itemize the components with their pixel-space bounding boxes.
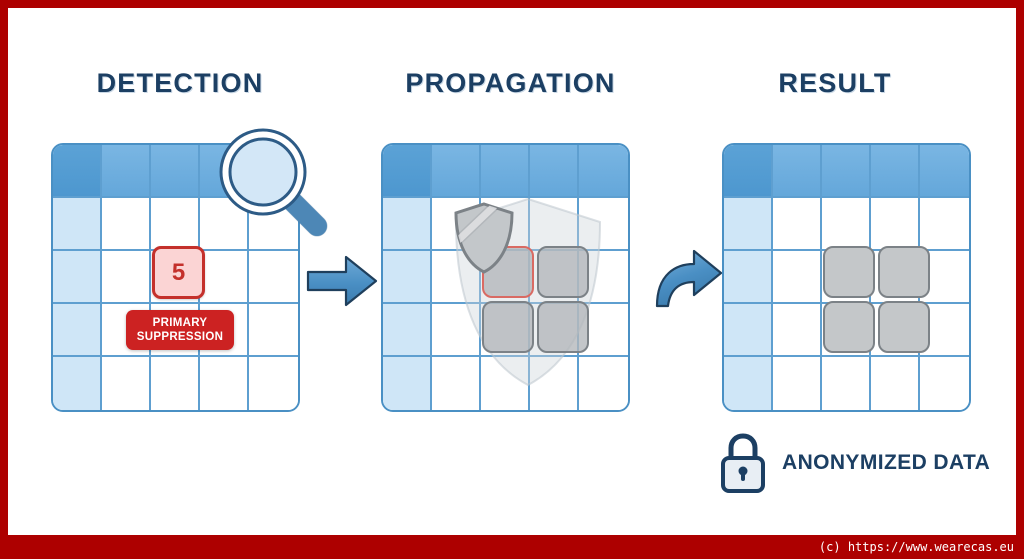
table-cell (530, 145, 579, 198)
table-cell (724, 145, 773, 198)
flagged-cell-value: 5 (152, 246, 205, 299)
table-cell (151, 198, 200, 251)
table-cell (383, 304, 432, 357)
table-cell (102, 198, 151, 251)
anonymized-data-row: ANONYMIZED DATA (718, 432, 990, 494)
table-cell (773, 198, 822, 251)
primary-suppression-badge: PRIMARY SUPPRESSION (126, 310, 234, 350)
lock-icon (718, 432, 768, 494)
table-cell (822, 198, 871, 251)
table-cell (773, 251, 822, 304)
table-cell (383, 145, 432, 198)
table-cell (724, 198, 773, 251)
frame-border-left (0, 0, 8, 535)
suppressed-cell (823, 246, 875, 298)
frame-border-right (1016, 0, 1024, 535)
panel-title-detection: DETECTION (40, 68, 320, 99)
table-cell (773, 304, 822, 357)
table-cell (920, 198, 969, 251)
table-cell (53, 251, 102, 304)
table-cell (724, 357, 773, 410)
table-cell (871, 357, 920, 410)
table-cell (773, 357, 822, 410)
table-cell (249, 304, 298, 357)
table-cell (724, 251, 773, 304)
suppressed-cell (878, 246, 930, 298)
badge-line-1: PRIMARY (153, 316, 208, 330)
table-cell (151, 145, 200, 198)
table-cell (249, 251, 298, 304)
table-cell (773, 145, 822, 198)
suppressed-cell (823, 301, 875, 353)
table-cell (871, 198, 920, 251)
watermark-bar: (c) https://www.wearecas.eu (0, 535, 1024, 559)
arrow-detection-to-propagation (306, 252, 378, 310)
table-cell (53, 198, 102, 251)
panel-title-propagation: PROPAGATION (368, 68, 653, 99)
table-cell (724, 304, 773, 357)
shield-small-icon (453, 202, 515, 274)
anonymized-data-label: ANONYMIZED DATA (782, 451, 990, 475)
badge-line-2: SUPPRESSION (137, 330, 223, 344)
table-cell (383, 357, 432, 410)
table-cell (481, 145, 530, 198)
suppressed-cell (537, 301, 589, 353)
table-cell (102, 251, 151, 304)
table-cell (871, 145, 920, 198)
suppressed-cell (878, 301, 930, 353)
table-cell (102, 357, 151, 410)
table-cell (920, 145, 969, 198)
frame-border-top (0, 0, 1024, 8)
magnifier-icon (213, 122, 333, 242)
table-cell (249, 357, 298, 410)
table-cell (53, 145, 102, 198)
table-cell (822, 357, 871, 410)
table-cell (383, 251, 432, 304)
suppressed-cell (537, 246, 589, 298)
table-cell (102, 145, 151, 198)
table-cell (151, 357, 200, 410)
table-cell (200, 357, 249, 410)
table-cell (920, 357, 969, 410)
watermark-text: (c) https://www.wearecas.eu (819, 540, 1024, 554)
table-cell (53, 304, 102, 357)
panel-title-result: RESULT (700, 68, 970, 99)
arrow-propagation-to-result (654, 248, 724, 312)
table-cell (822, 145, 871, 198)
table-cell (432, 145, 481, 198)
table-cell (579, 145, 628, 198)
table-cell (383, 198, 432, 251)
suppressed-cell (482, 301, 534, 353)
table-cell (53, 357, 102, 410)
table-cell (200, 251, 249, 304)
